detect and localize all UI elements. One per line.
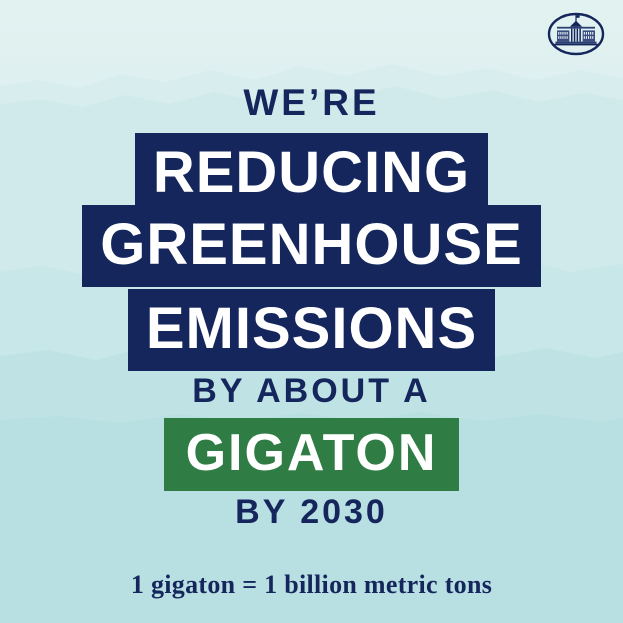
headline-line-by-2030: BY 2030 [0, 493, 623, 532]
headline-line-by-about-a: BY ABOUT A [0, 372, 623, 411]
headline-line-greenhouse-wrap: GREENHOUSE [0, 205, 623, 287]
headline-line-greenhouse: GREENHOUSE [82, 205, 541, 287]
headline-line-reducing-wrap: REDUCING [0, 133, 623, 215]
headline-line-gigaton-wrap: GIGATON [0, 418, 623, 491]
headline-line-gigaton: GIGATON [164, 418, 460, 491]
headline-line-emissions: EMISSIONS [128, 289, 495, 371]
headline-line-reducing: REDUCING [135, 133, 488, 215]
footnote-definition: 1 gigaton = 1 billion metric tons [0, 570, 623, 600]
headline-line-were: WE’RE [0, 82, 623, 124]
poster-canvas: WE’RE REDUCING GREENHOUSE EMISSIONS BY A… [0, 0, 623, 623]
headline-line-emissions-wrap: EMISSIONS [0, 289, 623, 371]
headline-stack: WE’RE REDUCING GREENHOUSE EMISSIONS BY A… [0, 0, 623, 623]
